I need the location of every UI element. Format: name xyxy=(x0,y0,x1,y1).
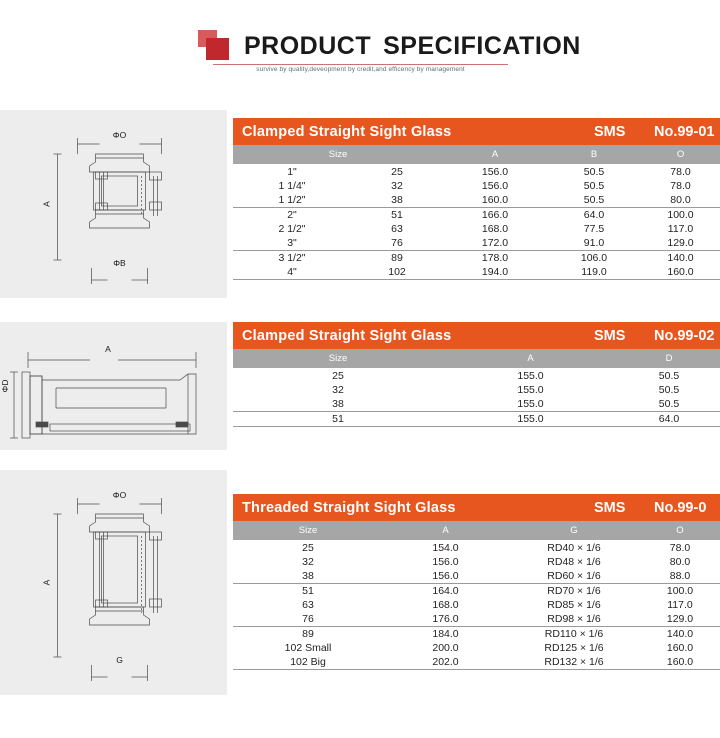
table-cell: 32 xyxy=(233,555,383,569)
table-cell: 160.0 xyxy=(640,655,720,670)
spec-table-block: Clamped Straight Sight GlassSMSNo.99-02S… xyxy=(233,322,720,427)
table-cell: 38 xyxy=(351,193,443,208)
table-cell: 160.0 xyxy=(443,193,547,208)
table-cell: 155.0 xyxy=(443,412,618,427)
table-cell: 184.0 xyxy=(383,627,508,642)
table-row: 2 1/2"63168.077.5117.0 xyxy=(233,222,720,236)
spec-table: SizeAGO25154.0RD40 × 1/678.032156.0RD48 … xyxy=(233,521,720,670)
table-row: 1 1/4"32156.050.578.0 xyxy=(233,179,720,193)
dimension-label-top: ΦO xyxy=(113,490,127,500)
table-cell: 64.0 xyxy=(547,208,641,223)
table-row: 102 Big202.0RD132 × 1/6160.0 xyxy=(233,655,720,670)
column-header: Size xyxy=(233,521,383,541)
table-cell: 194.0 xyxy=(443,265,547,280)
spec-table-title-bar: Threaded Straight Sight GlassSMSNo.99-0 xyxy=(233,494,720,521)
table-cell: 178.0 xyxy=(443,251,547,266)
table-cell: RD110 × 1/6 xyxy=(508,627,640,642)
column-header: G xyxy=(508,521,640,541)
table-cell: 64.0 xyxy=(618,412,720,427)
table-cell: 117.0 xyxy=(641,222,720,236)
column-header: O xyxy=(641,145,720,165)
spec-number-label: No.99-0 xyxy=(654,500,706,516)
dimension-label-left: A xyxy=(42,579,52,585)
table-cell: 80.0 xyxy=(641,193,720,208)
technical-drawing-svg: A ΦD xyxy=(0,322,227,450)
table-cell: 140.0 xyxy=(640,627,720,642)
table-cell: 156.0 xyxy=(443,179,547,193)
table-cell: 2" xyxy=(233,208,351,223)
table-cell: 88.0 xyxy=(640,569,720,584)
table-cell: 38 xyxy=(233,569,383,584)
table-row: 3"76172.091.0129.0 xyxy=(233,236,720,251)
spec-standard-label: SMS xyxy=(594,500,625,516)
table-cell: 202.0 xyxy=(383,655,508,670)
table-cell: 25 xyxy=(233,369,443,384)
table-cell: 1 1/2" xyxy=(233,193,351,208)
table-header-row: SizeAD xyxy=(233,349,720,369)
table-cell: 63 xyxy=(351,222,443,236)
table-cell: 50.5 xyxy=(618,369,720,384)
table-cell: 4" xyxy=(233,265,351,280)
table-cell: 32 xyxy=(351,179,443,193)
page-title-product: PRODUCT xyxy=(244,32,371,61)
table-cell: 50.5 xyxy=(547,179,641,193)
table-row: 63168.0RD85 × 1/6117.0 xyxy=(233,598,720,612)
threaded-straight-sight-glass-vertical-drawing: ΦO A G xyxy=(0,470,227,695)
dimension-label-left: ΦD xyxy=(0,380,10,393)
spec-standard-label: SMS xyxy=(594,124,625,140)
table-cell: 200.0 xyxy=(383,641,508,655)
title-row: PRODUCT SPECIFICATION xyxy=(198,30,581,62)
table-cell: 78.0 xyxy=(640,541,720,556)
table-cell: 168.0 xyxy=(443,222,547,236)
table-row: 51164.0RD70 × 1/6100.0 xyxy=(233,584,720,599)
dimension-label-bottom: ΦB xyxy=(113,258,126,268)
table-cell: RD70 × 1/6 xyxy=(508,584,640,599)
table-cell: 129.0 xyxy=(640,612,720,627)
table-cell: 106.0 xyxy=(547,251,641,266)
table-cell: 25 xyxy=(233,541,383,556)
table-row: 1 1/2"38160.050.580.0 xyxy=(233,193,720,208)
document-header: PRODUCT SPECIFICATION survive by quality… xyxy=(0,0,720,96)
table-cell: 154.0 xyxy=(383,541,508,556)
table-cell: RD85 × 1/6 xyxy=(508,598,640,612)
table-cell: 38 xyxy=(233,397,443,412)
table-cell: 51 xyxy=(351,208,443,223)
table-cell: 176.0 xyxy=(383,612,508,627)
table-cell: 63 xyxy=(233,598,383,612)
clamped-straight-sight-glass-horizontal-drawing: A ΦD xyxy=(0,322,227,450)
spec-table-block: Clamped Straight Sight GlassSMSNo.99-01S… xyxy=(233,118,720,280)
table-cell: 91.0 xyxy=(547,236,641,251)
table-cell: 3" xyxy=(233,236,351,251)
table-cell: 156.0 xyxy=(383,555,508,569)
technical-drawing-svg: ΦO A G xyxy=(0,470,227,695)
table-cell: 164.0 xyxy=(383,584,508,599)
table-cell: 172.0 xyxy=(443,236,547,251)
table-cell: 160.0 xyxy=(641,265,720,280)
table-cell: 32 xyxy=(233,383,443,397)
table-cell: 140.0 xyxy=(641,251,720,266)
table-cell: 102 xyxy=(351,265,443,280)
table-cell: 78.0 xyxy=(641,179,720,193)
table-cell: 76 xyxy=(351,236,443,251)
dimension-label-left: A xyxy=(42,201,52,207)
table-cell: 160.0 xyxy=(640,641,720,655)
table-cell: 100.0 xyxy=(640,584,720,599)
table-cell: 50.5 xyxy=(547,193,641,208)
dimension-label-top: A xyxy=(105,344,111,354)
dimension-label-bottom: G xyxy=(116,655,123,665)
table-cell: 89 xyxy=(351,251,443,266)
table-cell: 156.0 xyxy=(443,165,547,180)
table-cell: RD132 × 1/6 xyxy=(508,655,640,670)
column-header: O xyxy=(640,521,720,541)
table-row: 3 1/2"89178.0106.0140.0 xyxy=(233,251,720,266)
table-cell: 89 xyxy=(233,627,383,642)
table-cell: RD40 × 1/6 xyxy=(508,541,640,556)
table-cell: 168.0 xyxy=(383,598,508,612)
table-row: 51155.064.0 xyxy=(233,412,720,427)
company-tagline: survive by quality,deveopment by credit,… xyxy=(213,66,508,73)
table-cell: 50.5 xyxy=(618,383,720,397)
spec-table-title-bar: Clamped Straight Sight GlassSMSNo.99-02 xyxy=(233,322,720,349)
company-logo-icon xyxy=(198,30,236,62)
table-cell: 51 xyxy=(233,412,443,427)
column-header: Size xyxy=(233,145,443,165)
table-cell: 119.0 xyxy=(547,265,641,280)
table-cell: 78.0 xyxy=(641,165,720,180)
table-cell: 2 1/2" xyxy=(233,222,351,236)
table-cell: RD48 × 1/6 xyxy=(508,555,640,569)
spec-table-title: Threaded Straight Sight Glass xyxy=(242,500,456,516)
table-cell: 102 Small xyxy=(233,641,383,655)
table-cell: 80.0 xyxy=(640,555,720,569)
table-row: 102 Small200.0RD125 × 1/6160.0 xyxy=(233,641,720,655)
spec-table-block: Threaded Straight Sight GlassSMSNo.99-0S… xyxy=(233,494,720,670)
table-cell: 155.0 xyxy=(443,369,618,384)
spec-number-label: No.99-01 xyxy=(654,124,714,140)
table-row: 25155.050.5 xyxy=(233,369,720,384)
table-cell: RD60 × 1/6 xyxy=(508,569,640,584)
table-cell: 117.0 xyxy=(640,598,720,612)
title-divider xyxy=(213,64,508,65)
table-row: 38156.0RD60 × 1/688.0 xyxy=(233,569,720,584)
table-cell: 76 xyxy=(233,612,383,627)
table-row: 25154.0RD40 × 1/678.0 xyxy=(233,541,720,556)
table-row: 89184.0RD110 × 1/6140.0 xyxy=(233,627,720,642)
table-cell: 155.0 xyxy=(443,383,618,397)
column-header: A xyxy=(443,145,547,165)
spec-number-label: No.99-02 xyxy=(654,328,714,344)
table-cell: 100.0 xyxy=(641,208,720,223)
table-cell: 156.0 xyxy=(383,569,508,584)
column-header: A xyxy=(383,521,508,541)
table-row: 32155.050.5 xyxy=(233,383,720,397)
table-cell: 51 xyxy=(233,584,383,599)
table-cell: 3 1/2" xyxy=(233,251,351,266)
column-header: D xyxy=(618,349,720,369)
table-row: 32156.0RD48 × 1/680.0 xyxy=(233,555,720,569)
table-row: 2"51166.064.0100.0 xyxy=(233,208,720,223)
table-cell: 129.0 xyxy=(641,236,720,251)
table-cell: RD125 × 1/6 xyxy=(508,641,640,655)
table-cell: 25 xyxy=(351,165,443,180)
spec-standard-label: SMS xyxy=(594,328,625,344)
spec-table: SizeABO1"25156.050.578.01 1/4"32156.050.… xyxy=(233,145,720,280)
column-header: A xyxy=(443,349,618,369)
table-cell: 1 1/4" xyxy=(233,179,351,193)
column-header: Size xyxy=(233,349,443,369)
table-cell: 77.5 xyxy=(547,222,641,236)
table-row: 38155.050.5 xyxy=(233,397,720,412)
table-cell: 166.0 xyxy=(443,208,547,223)
page-title-specification: SPECIFICATION xyxy=(383,32,581,61)
table-row: 4"102194.0119.0160.0 xyxy=(233,265,720,280)
table-cell: 50.5 xyxy=(547,165,641,180)
spec-table-title: Clamped Straight Sight Glass xyxy=(242,328,451,344)
table-cell: 1" xyxy=(233,165,351,180)
spec-table-title-bar: Clamped Straight Sight GlassSMSNo.99-01 xyxy=(233,118,720,145)
table-cell: RD98 × 1/6 xyxy=(508,612,640,627)
table-row: 1"25156.050.578.0 xyxy=(233,165,720,180)
column-header: B xyxy=(547,145,641,165)
clamped-straight-sight-glass-vertical-drawing: ΦO A ΦB xyxy=(0,110,227,298)
table-cell: 102 Big xyxy=(233,655,383,670)
spec-table: SizeAD25155.050.532155.050.538155.050.55… xyxy=(233,349,720,427)
table-cell: 50.5 xyxy=(618,397,720,412)
table-header-row: SizeAGO xyxy=(233,521,720,541)
table-row: 76176.0RD98 × 1/6129.0 xyxy=(233,612,720,627)
spec-table-title: Clamped Straight Sight Glass xyxy=(242,124,451,140)
dimension-label-top: ΦO xyxy=(113,130,127,140)
table-header-row: SizeABO xyxy=(233,145,720,165)
technical-drawing-svg: ΦO A ΦB xyxy=(0,110,227,298)
table-cell: 155.0 xyxy=(443,397,618,412)
